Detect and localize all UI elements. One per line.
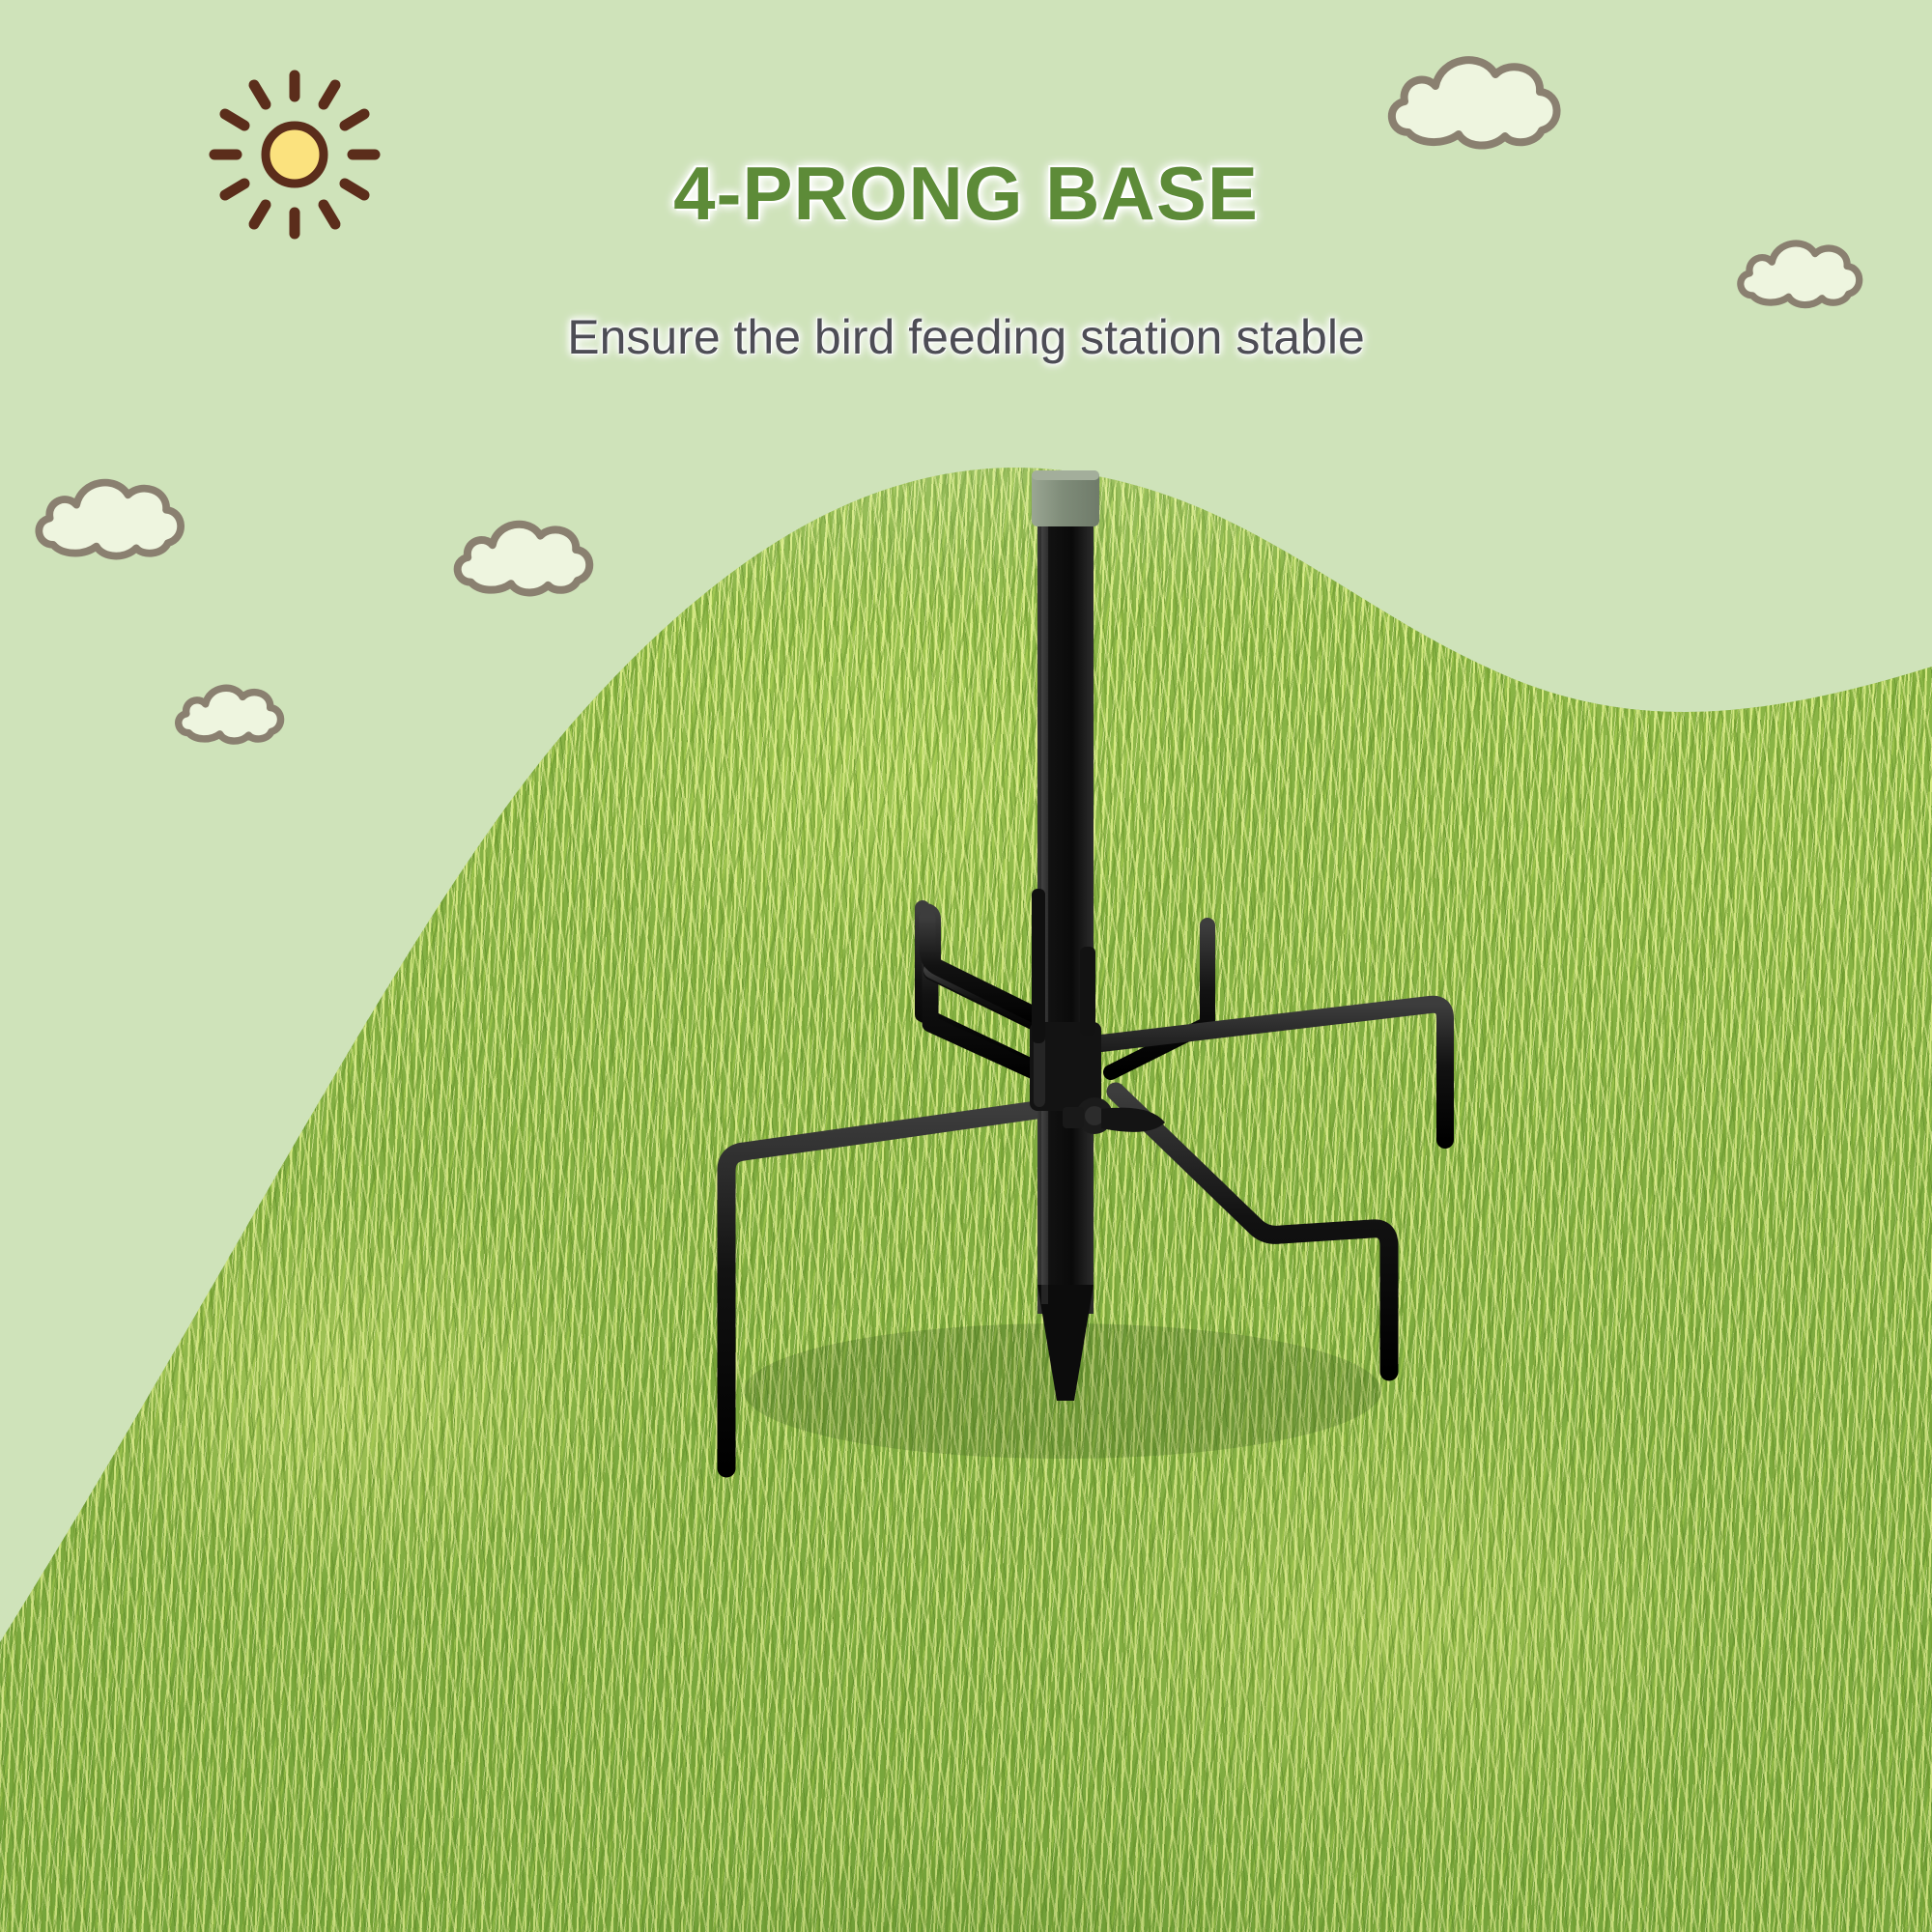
pole-cap <box>1032 470 1099 526</box>
product-feature-banner: 4-PRONG BASE Ensure the bird feeding sta… <box>0 0 1932 1932</box>
bird-feeder-stake-illustration <box>0 0 1932 1932</box>
page-subtitle: Ensure the bird feeding station stable <box>0 309 1932 365</box>
prong-rear-right <box>1111 925 1207 1072</box>
page-title: 4-PRONG BASE <box>0 150 1932 238</box>
